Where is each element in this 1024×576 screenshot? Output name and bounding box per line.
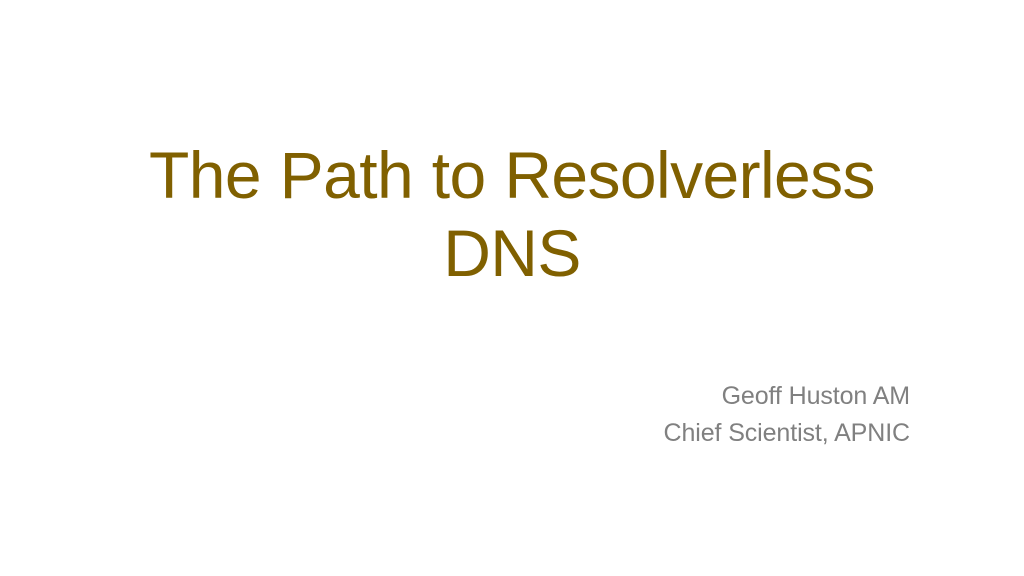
slide-title: The Path to Resolverless DNS (112, 136, 912, 292)
subtitle-placeholder[interactable]: Geoff Huston AM Chief Scientist, APNIC (420, 378, 910, 452)
title-placeholder[interactable]: The Path to Resolverless DNS (112, 136, 912, 292)
subtitle-line-presenter-name: Geoff Huston AM (420, 378, 910, 415)
presentation-slide: The Path to Resolverless DNS Geoff Husto… (0, 0, 1024, 576)
subtitle-line-presenter-title: Chief Scientist, APNIC (420, 415, 910, 452)
